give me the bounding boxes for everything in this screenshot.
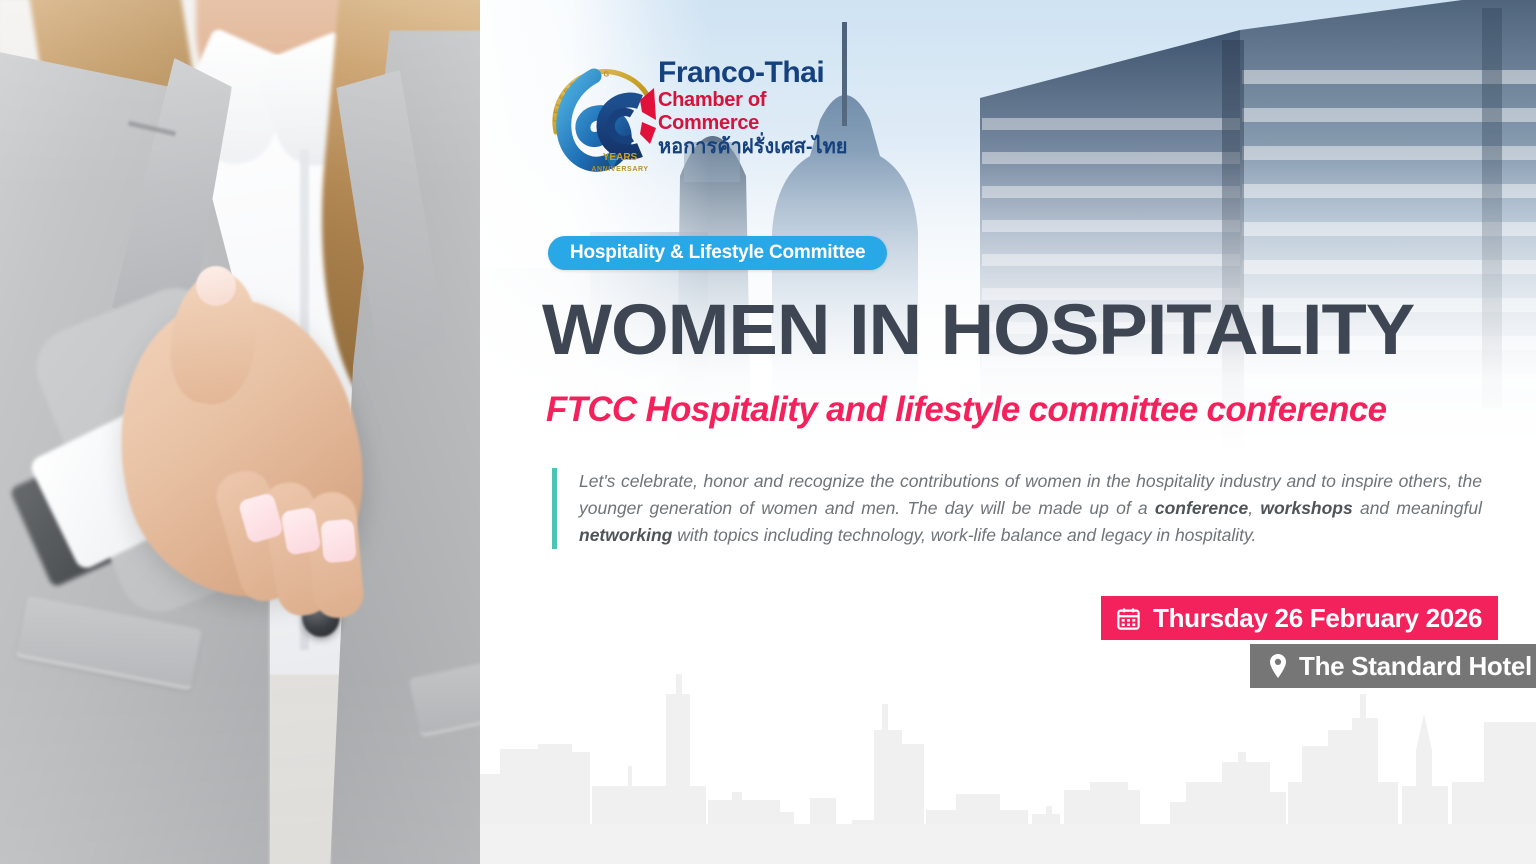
description-block: Let's celebrate, honor and recognize the… <box>552 468 1482 549</box>
calendar-icon <box>1115 605 1142 632</box>
logo-line-thai: หอการค้าฝรั่งเศส-ไทย <box>658 135 850 159</box>
logo-line-franco-thai: Franco-Thai <box>658 58 850 89</box>
skyline-silhouette <box>480 674 1536 864</box>
page-subtitle: FTCC Hospitality and lifestyle committee… <box>546 390 1526 430</box>
desc-bold-conference: conference <box>1155 498 1248 518</box>
event-date-bar: Thursday 26 February 2026 <box>1101 596 1498 640</box>
ftcc-logo: CELEBRATING YEARS ANNIVERSARY Franco-Tha… <box>550 48 850 178</box>
desc-mid-2: and meaningful <box>1353 498 1482 518</box>
desc-part-2: with topics including technology, work-l… <box>672 525 1256 545</box>
desc-bold-networking: networking <box>579 525 672 545</box>
content-panel: CELEBRATING YEARS ANNIVERSARY Franco-Tha… <box>480 0 1536 864</box>
map-pin-icon <box>1266 652 1290 680</box>
desc-bold-workshops: workshops <box>1260 498 1352 518</box>
photo-soft-overlay <box>0 0 480 864</box>
logo-line-chamber: Chamber of Commerce <box>658 89 850 135</box>
anniversary-60-mark: CELEBRATING YEARS ANNIVERSARY <box>550 48 658 174</box>
event-location-text: The Standard Hotel <box>1299 651 1532 682</box>
event-location-bar: The Standard Hotel <box>1250 644 1536 688</box>
description-text: Let's celebrate, honor and recognize the… <box>579 468 1482 549</box>
hero-photo-businesswoman-handshake <box>0 0 480 864</box>
page-title: WOMEN IN HOSPITALITY <box>542 296 1536 366</box>
svg-text:YEARS: YEARS <box>603 152 638 163</box>
committee-badge-label: Hospitality & Lifestyle Committee <box>570 242 865 264</box>
committee-badge: Hospitality & Lifestyle Committee <box>548 236 887 270</box>
event-poster: CELEBRATING YEARS ANNIVERSARY Franco-Tha… <box>0 0 1536 864</box>
event-date-text: Thursday 26 February 2026 <box>1153 603 1482 634</box>
desc-mid-1: , <box>1248 498 1260 518</box>
svg-text:ANNIVERSARY: ANNIVERSARY <box>591 166 648 173</box>
